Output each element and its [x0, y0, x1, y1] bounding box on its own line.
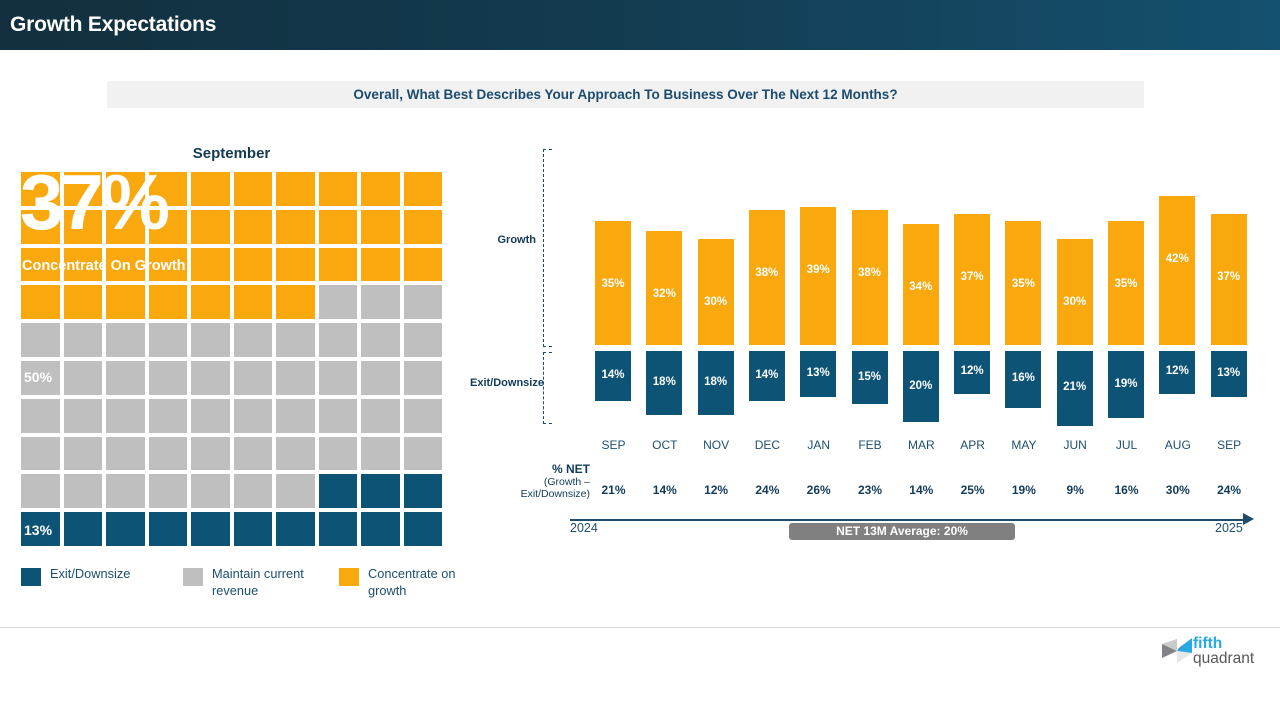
- month-label: MAR: [896, 438, 947, 452]
- bar-growth-value: 34%: [903, 281, 939, 293]
- waffle-cell: [404, 172, 443, 206]
- net-value: 21%: [588, 483, 639, 497]
- legend-label: Concentrate on growth: [368, 565, 458, 599]
- net-value: 24%: [1204, 483, 1255, 497]
- waffle-cell: [106, 361, 145, 395]
- waffle-cell: [64, 437, 103, 471]
- waffle-cell: [21, 437, 60, 471]
- waffle-cell: [191, 285, 230, 319]
- waffle-cell: [234, 361, 273, 395]
- waffle-cell: [361, 399, 400, 433]
- bar-exit-value: 15%: [852, 371, 888, 383]
- bar-group: 35%16%MAY19%: [998, 140, 1049, 560]
- slide-header: Growth Expectations: [0, 0, 1280, 50]
- legend-label: Exit/Downsize: [50, 565, 140, 582]
- net-value: 24%: [742, 483, 793, 497]
- waffle-cell: [319, 437, 358, 471]
- waffle-cell: [191, 248, 230, 282]
- net-value: 23%: [845, 483, 896, 497]
- bar-chart: GrowthExit/Downsize35%14%SEP21%32%18%OCT…: [470, 140, 1270, 560]
- month-label: JUN: [1050, 438, 1101, 452]
- waffle-cell: [404, 512, 443, 546]
- net-caption-line-1: % NET: [460, 462, 590, 476]
- net-value: 25%: [947, 483, 998, 497]
- month-label: FEB: [845, 438, 896, 452]
- bar-exit-value: 12%: [954, 365, 990, 377]
- waffle-cell: [404, 210, 443, 244]
- waffle-cell: [149, 323, 188, 357]
- waffle-cell: [319, 210, 358, 244]
- waffle-headline-value: 37%: [20, 163, 167, 241]
- waffle-cell: [404, 474, 443, 508]
- waffle-cell: [276, 437, 315, 471]
- month-label: MAY: [998, 438, 1049, 452]
- waffle-cell: [319, 285, 358, 319]
- waffle-cell: [361, 172, 400, 206]
- bar-growth-value: 32%: [646, 288, 682, 300]
- waffle-cell: [361, 285, 400, 319]
- bar-exit-value: 21%: [1057, 381, 1093, 393]
- net-value: 26%: [793, 483, 844, 497]
- waffle-cell: [191, 512, 230, 546]
- waffle-cell: [21, 399, 60, 433]
- bar-group: 30%21%JUN9%: [1050, 140, 1101, 560]
- timeline-axis: [570, 519, 1247, 521]
- net-value: 30%: [1152, 483, 1203, 497]
- waffle-cell: [106, 323, 145, 357]
- legend-label: Maintain current revenue: [212, 565, 322, 599]
- bar-growth-value: 38%: [749, 267, 785, 279]
- waffle-cell: [234, 323, 273, 357]
- waffle-cell: [404, 399, 443, 433]
- bar-group: 38%14%DEC24%: [742, 140, 793, 560]
- waffle-cell: [191, 399, 230, 433]
- waffle-cell: [64, 361, 103, 395]
- waffle-cell: [149, 399, 188, 433]
- net-row-caption: % NET (Growth – Exit/Downsize): [460, 462, 590, 500]
- bar-group: 32%18%OCT14%: [639, 140, 690, 560]
- waffle-cell: [234, 474, 273, 508]
- waffle-cell: [234, 399, 273, 433]
- bar-growth-value: 30%: [698, 296, 734, 308]
- logo-wordmark: fifth quadrant: [1193, 636, 1254, 667]
- bar-growth: [1057, 239, 1093, 346]
- waffle-cell: [149, 437, 188, 471]
- waffle-cell: [106, 285, 145, 319]
- waffle-cell: [149, 512, 188, 546]
- exit-bracket: [543, 352, 552, 424]
- bar-growth: [1159, 196, 1195, 345]
- net-value: 14%: [896, 483, 947, 497]
- legend-swatch-icon: [21, 568, 41, 586]
- growth-axis-label: Growth: [470, 234, 536, 246]
- month-label: APR: [947, 438, 998, 452]
- bar-exit-value: 20%: [903, 380, 939, 392]
- waffle-cell: [21, 474, 60, 508]
- waffle-cell: [234, 437, 273, 471]
- net-value: 19%: [998, 483, 1049, 497]
- month-label: NOV: [691, 438, 742, 452]
- legend-swatch-icon: [183, 568, 203, 586]
- waffle-cell: [149, 285, 188, 319]
- waffle-exit-value: 13%: [24, 522, 52, 538]
- bar-exit-value: 12%: [1159, 365, 1195, 377]
- waffle-cell: [234, 285, 273, 319]
- waffle-cell: [149, 474, 188, 508]
- waffle-cell: [191, 323, 230, 357]
- waffle-cell: [404, 285, 443, 319]
- month-label: DEC: [742, 438, 793, 452]
- exit-axis-label: Exit/Downsize: [470, 377, 536, 389]
- waffle-cell: [276, 248, 315, 282]
- timeline-arrow-icon: [1243, 513, 1254, 525]
- bar-group: 35%14%SEP21%: [588, 140, 639, 560]
- waffle-cell: [234, 248, 273, 282]
- page-title: Growth Expectations: [10, 13, 216, 37]
- waffle-cell: [361, 323, 400, 357]
- growth-bracket: [543, 149, 552, 347]
- waffle-cell: [21, 323, 60, 357]
- bar-group: 38%15%FEB23%: [845, 140, 896, 560]
- waffle-cell: [64, 285, 103, 319]
- bar-growth-value: 35%: [1005, 278, 1041, 290]
- month-label: SEP: [1204, 438, 1255, 452]
- month-label: JUL: [1101, 438, 1152, 452]
- waffle-cell: [64, 399, 103, 433]
- waffle-headline-label: Concentrate On Growth: [22, 258, 186, 274]
- waffle-cell: [191, 361, 230, 395]
- waffle-cell: [106, 512, 145, 546]
- net-caption-line-3: Exit/Downsize): [460, 488, 590, 500]
- legend: Exit/DownsizeMaintain current revenueCon…: [21, 565, 461, 607]
- waffle-cell: [276, 323, 315, 357]
- waffle-cell: [361, 512, 400, 546]
- bar-growth-value: 37%: [1211, 271, 1247, 283]
- bar-growth-value: 38%: [852, 267, 888, 279]
- waffle-cell: [319, 172, 358, 206]
- waffle-cell: [276, 361, 315, 395]
- legend-swatch-icon: [339, 568, 359, 586]
- waffle-cell: [404, 248, 443, 282]
- waffle-cell: [276, 474, 315, 508]
- pinwheel-icon: [1160, 636, 1194, 666]
- waffle-cell: [276, 399, 315, 433]
- bar-growth-value: 37%: [954, 271, 990, 283]
- waffle-cell: [106, 474, 145, 508]
- bar-exit-value: 19%: [1108, 378, 1144, 390]
- waffle-cell: [319, 512, 358, 546]
- bar-growth-value: 35%: [595, 278, 631, 290]
- bar-exit-value: 16%: [1005, 372, 1041, 384]
- waffle-cell: [404, 361, 443, 395]
- slide-canvas: Growth Expectations Overall, What Best D…: [0, 0, 1280, 720]
- bar-exit-value: 18%: [698, 376, 734, 388]
- net-value: 16%: [1101, 483, 1152, 497]
- bar-growth: [800, 207, 836, 345]
- logo-word-quadrant: quadrant: [1193, 651, 1254, 667]
- timeline-end-year: 2025: [1215, 521, 1243, 535]
- question-banner: Overall, What Best Describes Your Approa…: [107, 81, 1144, 108]
- month-label: JAN: [793, 438, 844, 452]
- bar-group: 39%13%JAN26%: [793, 140, 844, 560]
- question-text: Overall, What Best Describes Your Approa…: [107, 81, 1144, 108]
- waffle-cell: [276, 512, 315, 546]
- waffle-cell: [191, 437, 230, 471]
- bar-growth-value: 35%: [1108, 278, 1144, 290]
- bar-exit-value: 13%: [1211, 367, 1247, 379]
- average-badge: NET 13M Average: 20%: [789, 523, 1015, 540]
- waffle-cell: [276, 285, 315, 319]
- bar-group: 42%12%AUG30%: [1152, 140, 1203, 560]
- waffle-cell: [319, 323, 358, 357]
- waffle-cell: [361, 210, 400, 244]
- net-value: 9%: [1050, 483, 1101, 497]
- waffle-cell: [234, 210, 273, 244]
- waffle-cell: [191, 474, 230, 508]
- waffle-cell: [64, 474, 103, 508]
- waffle-cell: [64, 323, 103, 357]
- footer-divider: [0, 627, 1280, 628]
- bar-exit-value: 18%: [646, 376, 682, 388]
- waffle-cell: [319, 361, 358, 395]
- waffle-cell: [276, 172, 315, 206]
- net-value: 14%: [639, 483, 690, 497]
- waffle-cell: [361, 361, 400, 395]
- waffle-cell: [106, 437, 145, 471]
- waffle-cell: [191, 172, 230, 206]
- logo-word-fifth: fifth: [1193, 636, 1254, 651]
- waffle-cell: [319, 399, 358, 433]
- month-label: SEP: [588, 438, 639, 452]
- waffle-cell: [106, 399, 145, 433]
- timeline-start-year: 2024: [570, 521, 598, 535]
- waffle-cell: [361, 248, 400, 282]
- waffle-maintain-value: 50%: [24, 369, 52, 385]
- month-label: OCT: [639, 438, 690, 452]
- bar-group: 37%13%SEP24%: [1204, 140, 1255, 560]
- bar-exit-value: 14%: [749, 369, 785, 381]
- bar-group: 34%20%MAR14%: [896, 140, 947, 560]
- bar-exit-value: 14%: [595, 369, 631, 381]
- month-label: AUG: [1152, 438, 1203, 452]
- waffle-cell: [191, 210, 230, 244]
- waffle-cell: [234, 512, 273, 546]
- waffle-cell: [319, 248, 358, 282]
- bar-growth-value: 42%: [1159, 253, 1195, 265]
- bar-growth-value: 30%: [1057, 296, 1093, 308]
- waffle-cell: [361, 437, 400, 471]
- bar-growth: [698, 239, 734, 346]
- waffle-cell: [276, 210, 315, 244]
- waffle-cell: [404, 437, 443, 471]
- bar-group: 37%12%APR25%: [947, 140, 998, 560]
- net-caption-line-2: (Growth –: [460, 476, 590, 488]
- bar-growth-value: 39%: [800, 264, 836, 276]
- waffle-cell: [234, 172, 273, 206]
- waffle-cell: [21, 285, 60, 319]
- bar-group: 30%18%NOV12%: [691, 140, 742, 560]
- bar-group: 35%19%JUL16%: [1101, 140, 1152, 560]
- waffle-cell: [64, 512, 103, 546]
- waffle-cell: [404, 323, 443, 357]
- waffle-cell: [319, 474, 358, 508]
- waffle-cell: [361, 474, 400, 508]
- waffle-cell: [149, 361, 188, 395]
- net-value: 12%: [691, 483, 742, 497]
- bar-exit-value: 13%: [800, 367, 836, 379]
